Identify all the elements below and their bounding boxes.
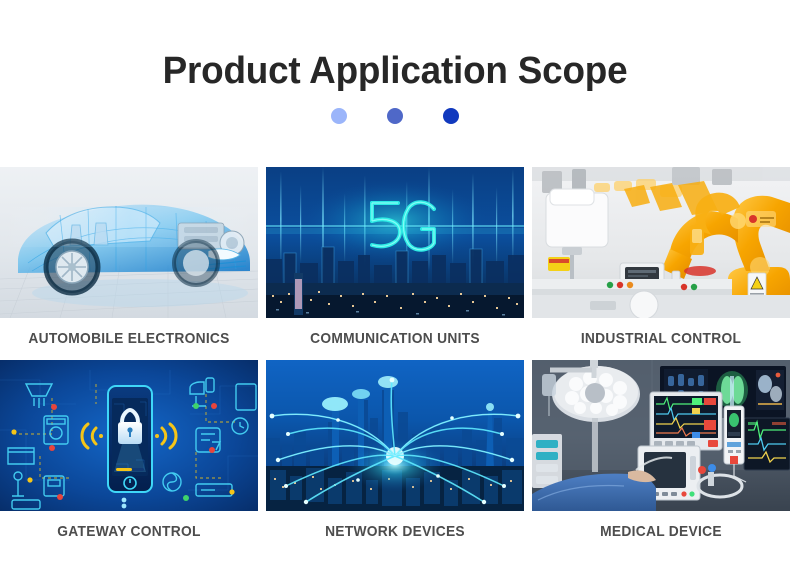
decorative-dots [0, 108, 790, 124]
grid-item[interactable]: AUTOMOBILE ELECTRONICS [0, 167, 258, 360]
xray-car-image[interactable] [0, 167, 258, 318]
dot-medium-icon [387, 108, 403, 124]
caption-communication-units: COMMUNICATION UNITS [276, 318, 513, 360]
caption-network-devices: NETWORK DEVICES [276, 511, 513, 553]
product-application-scope-page: Product Application Scope [0, 0, 790, 567]
caption-industrial-control: INDUSTRIAL CONTROL [542, 318, 779, 360]
grid-item[interactable]: GATEWAY CONTROL [0, 360, 258, 553]
5g-city-image[interactable] [266, 167, 524, 318]
caption-medical-device: MEDICAL DEVICE [542, 511, 779, 553]
dot-dark-icon [443, 108, 459, 124]
grid-item[interactable]: COMMUNICATION UNITS [266, 167, 524, 360]
grid-item[interactable]: INDUSTRIAL CONTROL [532, 167, 790, 360]
application-grid: AUTOMOBILE ELECTRONICS [0, 167, 790, 553]
robot-arm-image[interactable] [532, 167, 790, 318]
network-city-image[interactable] [266, 360, 524, 511]
caption-gateway-control: GATEWAY CONTROL [10, 511, 247, 553]
grid-item[interactable]: NETWORK DEVICES [266, 360, 524, 553]
smart-home-gateway-image[interactable] [0, 360, 258, 511]
grid-item[interactable]: MEDICAL DEVICE [532, 360, 790, 553]
caption-automobile-electronics: AUTOMOBILE ELECTRONICS [10, 318, 247, 360]
page-title: Product Application Scope [12, 0, 778, 94]
page-header: Product Application Scope [0, 0, 790, 160]
operating-room-image[interactable] [532, 360, 790, 511]
dot-light-icon [331, 108, 347, 124]
